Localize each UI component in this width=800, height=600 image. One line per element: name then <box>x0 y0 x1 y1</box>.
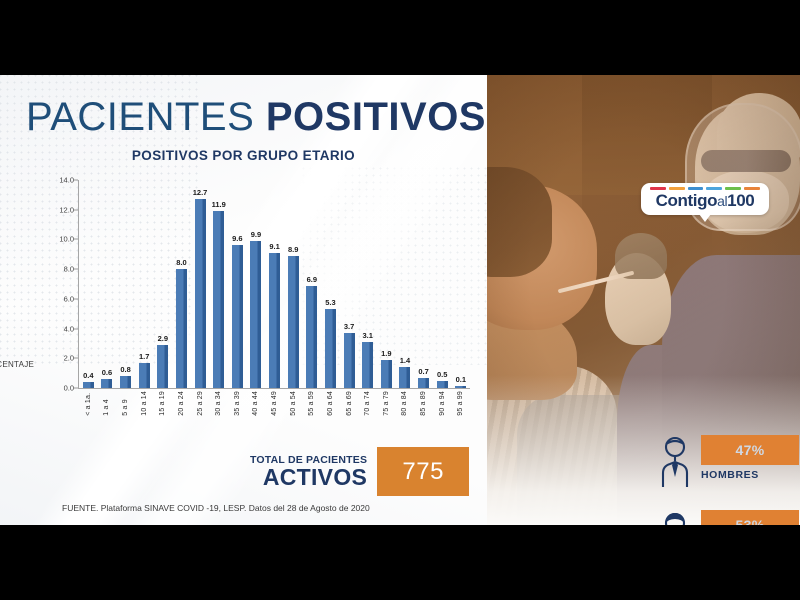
logo-color-bar <box>669 187 685 190</box>
contigo-al-100-logo: Contigoal100 <box>641 183 769 215</box>
total-active-patients: TOTAL DE PACIENTES ACTIVOS 775 <box>250 447 469 496</box>
y-axis-tick-label: 2.0 <box>64 354 74 363</box>
x-axis-tick: 75 a 79 <box>377 391 396 416</box>
bar-cell: 8.0 <box>172 180 191 388</box>
chart-bar: 3.1 <box>362 342 373 388</box>
chart-bar: 1.7 <box>139 363 150 388</box>
y-axis-tick-label: 12.0 <box>59 205 74 214</box>
bar-value-label: 2.9 <box>158 334 168 343</box>
y-axis: 0.02.04.06.08.010.012.014.0 <box>40 180 80 388</box>
y-axis-tick-label: 6.0 <box>64 294 74 303</box>
chart-bar: 0.7 <box>418 378 429 388</box>
bar-cell: 0.7 <box>414 180 433 388</box>
logo-color-bars <box>649 187 761 190</box>
bar-value-label: 8.9 <box>288 245 298 254</box>
x-axis-tick: 45 a 49 <box>265 391 284 416</box>
x-axis-tick: 80 a 84 <box>396 391 415 416</box>
x-axis-tick-label: 90 a 94 <box>439 391 446 416</box>
x-axis-tick: 20 a 24 <box>172 391 191 416</box>
x-axis-tick: 40 a 44 <box>247 391 266 416</box>
bar-cell: 1.4 <box>396 180 415 388</box>
bar-value-label: 9.6 <box>232 234 242 243</box>
bar-value-label: 1.9 <box>381 349 391 358</box>
logo-text-number: 100 <box>727 191 754 210</box>
bar-cell: 1.7 <box>135 180 154 388</box>
letterbox-top <box>0 0 800 75</box>
x-axis-tick-label: 35 a 39 <box>234 391 241 416</box>
x-axis-tick-label: 30 a 34 <box>215 391 222 416</box>
x-axis-tick: 25 a 29 <box>191 391 210 416</box>
logo-color-bar <box>650 187 666 190</box>
x-axis-tick-label: 55 a 59 <box>308 391 315 416</box>
gender-label: HOMBRES <box>701 469 799 481</box>
bar-value-label: 0.6 <box>102 368 112 377</box>
x-axis-tick-label: 50 a 54 <box>290 391 297 416</box>
bar-cell: 0.8 <box>116 180 135 388</box>
chart-bar: 1.9 <box>381 360 392 388</box>
y-axis-title: PORCENTAJE <box>0 360 34 369</box>
chart-bar: 0.1 <box>455 386 466 388</box>
x-axis-tick: 85 a 89 <box>414 391 433 416</box>
page-title: PACIENTES POSITIVOS <box>26 95 486 140</box>
bar-cell: 9.1 <box>265 180 284 388</box>
y-axis-tick-label: 0.0 <box>64 384 74 393</box>
bar-cell: 3.1 <box>358 180 377 388</box>
bar-value-label: 0.4 <box>83 371 93 380</box>
bar-cell: 1.9 <box>377 180 396 388</box>
total-value: 775 <box>402 458 444 486</box>
chart-bar: 0.5 <box>437 381 448 388</box>
gender-percent-bar: 47% <box>701 435 799 465</box>
chart-bar: 3.7 <box>344 333 355 388</box>
bar-value-label: 6.9 <box>307 275 317 284</box>
bar-cell: 9.9 <box>247 180 266 388</box>
gender-stat-mujeres: 53% MUJERES <box>655 510 799 525</box>
bar-value-label: 1.4 <box>400 356 410 365</box>
bar-value-label: 11.9 <box>212 200 226 209</box>
bar-cell: 11.9 <box>209 180 228 388</box>
x-axis-tick-label: 15 a 19 <box>159 391 166 416</box>
chart-bar: 2.9 <box>157 345 168 388</box>
x-axis-tick-label: 75 a 79 <box>383 391 390 416</box>
x-axis-tick-label: 95 a 99 <box>457 391 464 416</box>
x-axis-tick: 50 a 54 <box>284 391 303 416</box>
bar-cell: 0.4 <box>79 180 98 388</box>
title-bold-part: POSITIVOS <box>266 95 486 139</box>
total-label-bottom: ACTIVOS <box>250 466 367 489</box>
bar-value-label: 5.3 <box>325 298 335 307</box>
x-axis-tick: 15 a 19 <box>154 391 173 416</box>
x-axis-tick: 95 a 99 <box>452 391 471 416</box>
bar-cell: 6.9 <box>303 180 322 388</box>
bar-cell: 12.7 <box>191 180 210 388</box>
x-axis-tick: 35 a 39 <box>228 391 247 416</box>
title-light-part: PACIENTES <box>26 95 266 139</box>
x-axis-tick: 10 a 14 <box>135 391 154 416</box>
bar-cell: 0.5 <box>433 180 452 388</box>
gender-percent-bar: 53% <box>701 510 799 525</box>
bar-value-label: 8.0 <box>176 258 186 267</box>
bar-cell: 8.9 <box>284 180 303 388</box>
x-axis-tick-label: 20 a 24 <box>178 391 185 416</box>
logo-color-bar <box>744 187 760 190</box>
y-axis-tick-label: 14.0 <box>59 176 74 185</box>
chart-panel: PACIENTES POSITIVOS POSITIVOS POR GRUPO … <box>0 75 487 525</box>
chart-bar: 5.3 <box>325 309 336 388</box>
x-axis-tick-label: 5 a 9 <box>122 391 129 416</box>
chart-bar: 9.9 <box>250 241 261 388</box>
logo-text: Contigoal100 <box>649 192 761 210</box>
chart-bar: 0.4 <box>83 382 94 388</box>
x-axis-tick: < a 1a. <box>79 391 98 416</box>
x-axis-tick: 60 a 64 <box>321 391 340 416</box>
presentation-slide: PACIENTES POSITIVOS POSITIVOS POR GRUPO … <box>0 75 800 525</box>
x-axis-tick-label: 25 a 29 <box>197 391 204 416</box>
gender-stat-hombres: 47% HOMBRES <box>655 435 799 487</box>
gender-stat-content: 47% HOMBRES <box>701 435 799 481</box>
total-label-group: TOTAL DE PACIENTES ACTIVOS <box>250 454 367 489</box>
logo-text-main: Contigo <box>656 191 717 210</box>
bar-cell: 0.6 <box>98 180 117 388</box>
chart-bar: 8.9 <box>288 256 299 388</box>
y-axis-tick-label: 4.0 <box>64 324 74 333</box>
logo-text-thin: al <box>717 193 727 209</box>
x-axis-tick-label: < a 1a. <box>85 391 92 416</box>
age-group-bar-chart: 0.02.04.06.08.010.012.014.0 0.40.60.81.7… <box>40 180 470 470</box>
chart-bar: 1.4 <box>399 367 410 388</box>
chart-bar: 9.6 <box>232 245 243 388</box>
bar-cell: 3.7 <box>340 180 359 388</box>
x-axis-tick: 1 a 4 <box>98 391 117 416</box>
x-axis-tick: 90 a 94 <box>433 391 452 416</box>
bar-value-label: 0.7 <box>418 367 428 376</box>
x-axis-tick-label: 80 a 84 <box>401 391 408 416</box>
chart-title: POSITIVOS POR GRUPO ETARIO <box>0 148 487 163</box>
male-person-icon <box>655 435 695 487</box>
plot-area: 0.40.60.81.72.98.012.711.99.69.99.18.96.… <box>79 180 470 388</box>
x-axis-tick-label: 70 a 74 <box>364 391 371 416</box>
slide-screenshot: PACIENTES POSITIVOS POSITIVOS POR GRUPO … <box>0 0 800 600</box>
x-axis-tick-label: 85 a 89 <box>420 391 427 416</box>
chart-bar: 0.6 <box>101 379 112 388</box>
x-axis-tick: 55 a 59 <box>303 391 322 416</box>
x-axis-tick: 65 a 69 <box>340 391 359 416</box>
chart-bar: 9.1 <box>269 253 280 388</box>
x-axis-tick-label: 1 a 4 <box>103 391 110 416</box>
bar-value-label: 3.7 <box>344 322 354 331</box>
bar-value-label: 12.7 <box>193 188 208 197</box>
gender-stat-content: 53% MUJERES <box>701 510 799 525</box>
x-axis-tick-label: 10 a 14 <box>141 391 148 416</box>
bar-value-label: 9.1 <box>269 242 279 251</box>
x-axis-tick: 30 a 34 <box>209 391 228 416</box>
logo-color-bar <box>688 187 704 190</box>
bar-value-label: 9.9 <box>251 230 261 239</box>
logo-bubble: Contigoal100 <box>641 183 769 215</box>
source-note: FUENTE. Plataforma SINAVE COVID -19, LES… <box>62 503 370 513</box>
bar-cell: 2.9 <box>154 180 173 388</box>
x-axis-labels: < a 1a.1 a 45 a 910 a 1415 a 1920 a 2425… <box>79 391 470 416</box>
bar-cell: 0.1 <box>452 180 471 388</box>
gender-percent-value: 53% <box>736 517 765 525</box>
bar-value-label: 0.8 <box>120 365 130 374</box>
x-axis-tick: 70 a 74 <box>358 391 377 416</box>
logo-color-bar <box>706 187 722 190</box>
female-person-icon <box>655 510 695 525</box>
bar-value-label: 3.1 <box>362 331 372 340</box>
total-value-box: 775 <box>377 447 469 496</box>
x-axis-tick-label: 45 a 49 <box>271 391 278 416</box>
bar-cell: 5.3 <box>321 180 340 388</box>
x-axis-tick-label: 65 a 69 <box>346 391 353 416</box>
y-axis-tick-label: 8.0 <box>64 265 74 274</box>
letterbox-bottom <box>0 525 800 600</box>
chart-bar: 12.7 <box>195 199 206 388</box>
bar-value-label: 0.5 <box>437 370 447 379</box>
x-axis-line <box>78 388 470 389</box>
x-axis-tick-label: 40 a 44 <box>252 391 259 416</box>
chart-bar: 11.9 <box>213 211 224 388</box>
gender-percent-value: 47% <box>736 442 765 458</box>
y-axis-tick-label: 10.0 <box>59 235 74 244</box>
bar-value-label: 0.1 <box>456 375 466 384</box>
logo-color-bar <box>725 187 741 190</box>
x-axis-tick: 5 a 9 <box>116 391 135 416</box>
bar-cell: 9.6 <box>228 180 247 388</box>
chart-bar: 6.9 <box>306 286 317 389</box>
chart-bar: 0.8 <box>120 376 131 388</box>
x-axis-tick-label: 60 a 64 <box>327 391 334 416</box>
chart-bar: 8.0 <box>176 269 187 388</box>
bar-value-label: 1.7 <box>139 352 149 361</box>
